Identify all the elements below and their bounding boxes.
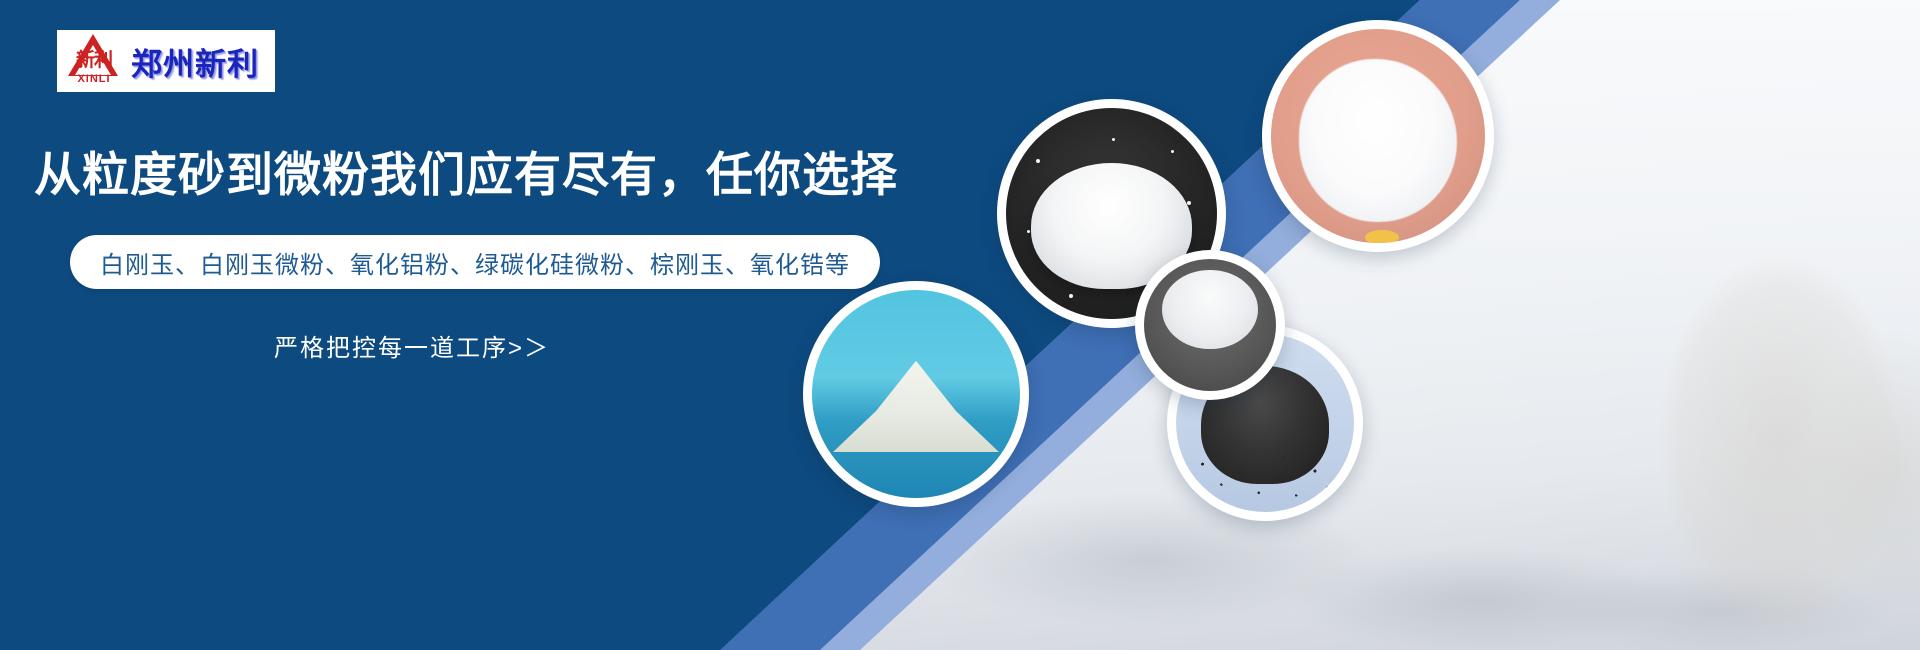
product-circle-grey-dish <box>1135 250 1285 400</box>
product-list-pill[interactable]: 白刚玉、白刚玉微粉、氧化铝粉、绿碳化硅微粉、棕刚玉、氧化锆等 <box>70 235 880 289</box>
product-circle-alumina-powder-inner <box>1271 29 1485 243</box>
dish-rim-highlight <box>1365 230 1399 243</box>
product-circle-alumina-powder <box>1262 20 1494 252</box>
logo-triangle-icon: 新利 XINLI <box>65 33 123 89</box>
black-grit-scatter <box>1187 437 1344 505</box>
logo-company-name: 郑州新利 <box>131 39 259 84</box>
product-circle-micropowder-inner <box>812 290 1020 498</box>
company-logo[interactable]: 新利 XINLI 郑州新利 <box>57 30 275 92</box>
promo-banner: 新利 XINLI 郑州新利 从粒度砂到微粉我们应有尽有，任你选择 白刚玉、白刚玉… <box>0 0 1920 650</box>
product-circle-grey-dish-inner <box>1144 259 1276 391</box>
product-circle-micropowder <box>803 281 1029 507</box>
logo-mark-en: XINLI <box>65 73 123 85</box>
process-quality-link[interactable]: 严格把控每一道工序>＞ <box>274 328 550 363</box>
product-list-text: 白刚玉、白刚玉微粉、氧化铝粉、绿碳化硅微粉、棕刚玉、氧化锆等 <box>100 245 850 280</box>
alumina-powder-material <box>1299 59 1457 222</box>
logo-mark-cn: 新利 <box>66 51 122 70</box>
white-corundum-micropowder-material <box>833 361 999 453</box>
banner-headline: 从粒度砂到微粉我们应有尽有，任你选择 <box>34 146 898 204</box>
grey-dish-grains-material <box>1162 270 1257 349</box>
